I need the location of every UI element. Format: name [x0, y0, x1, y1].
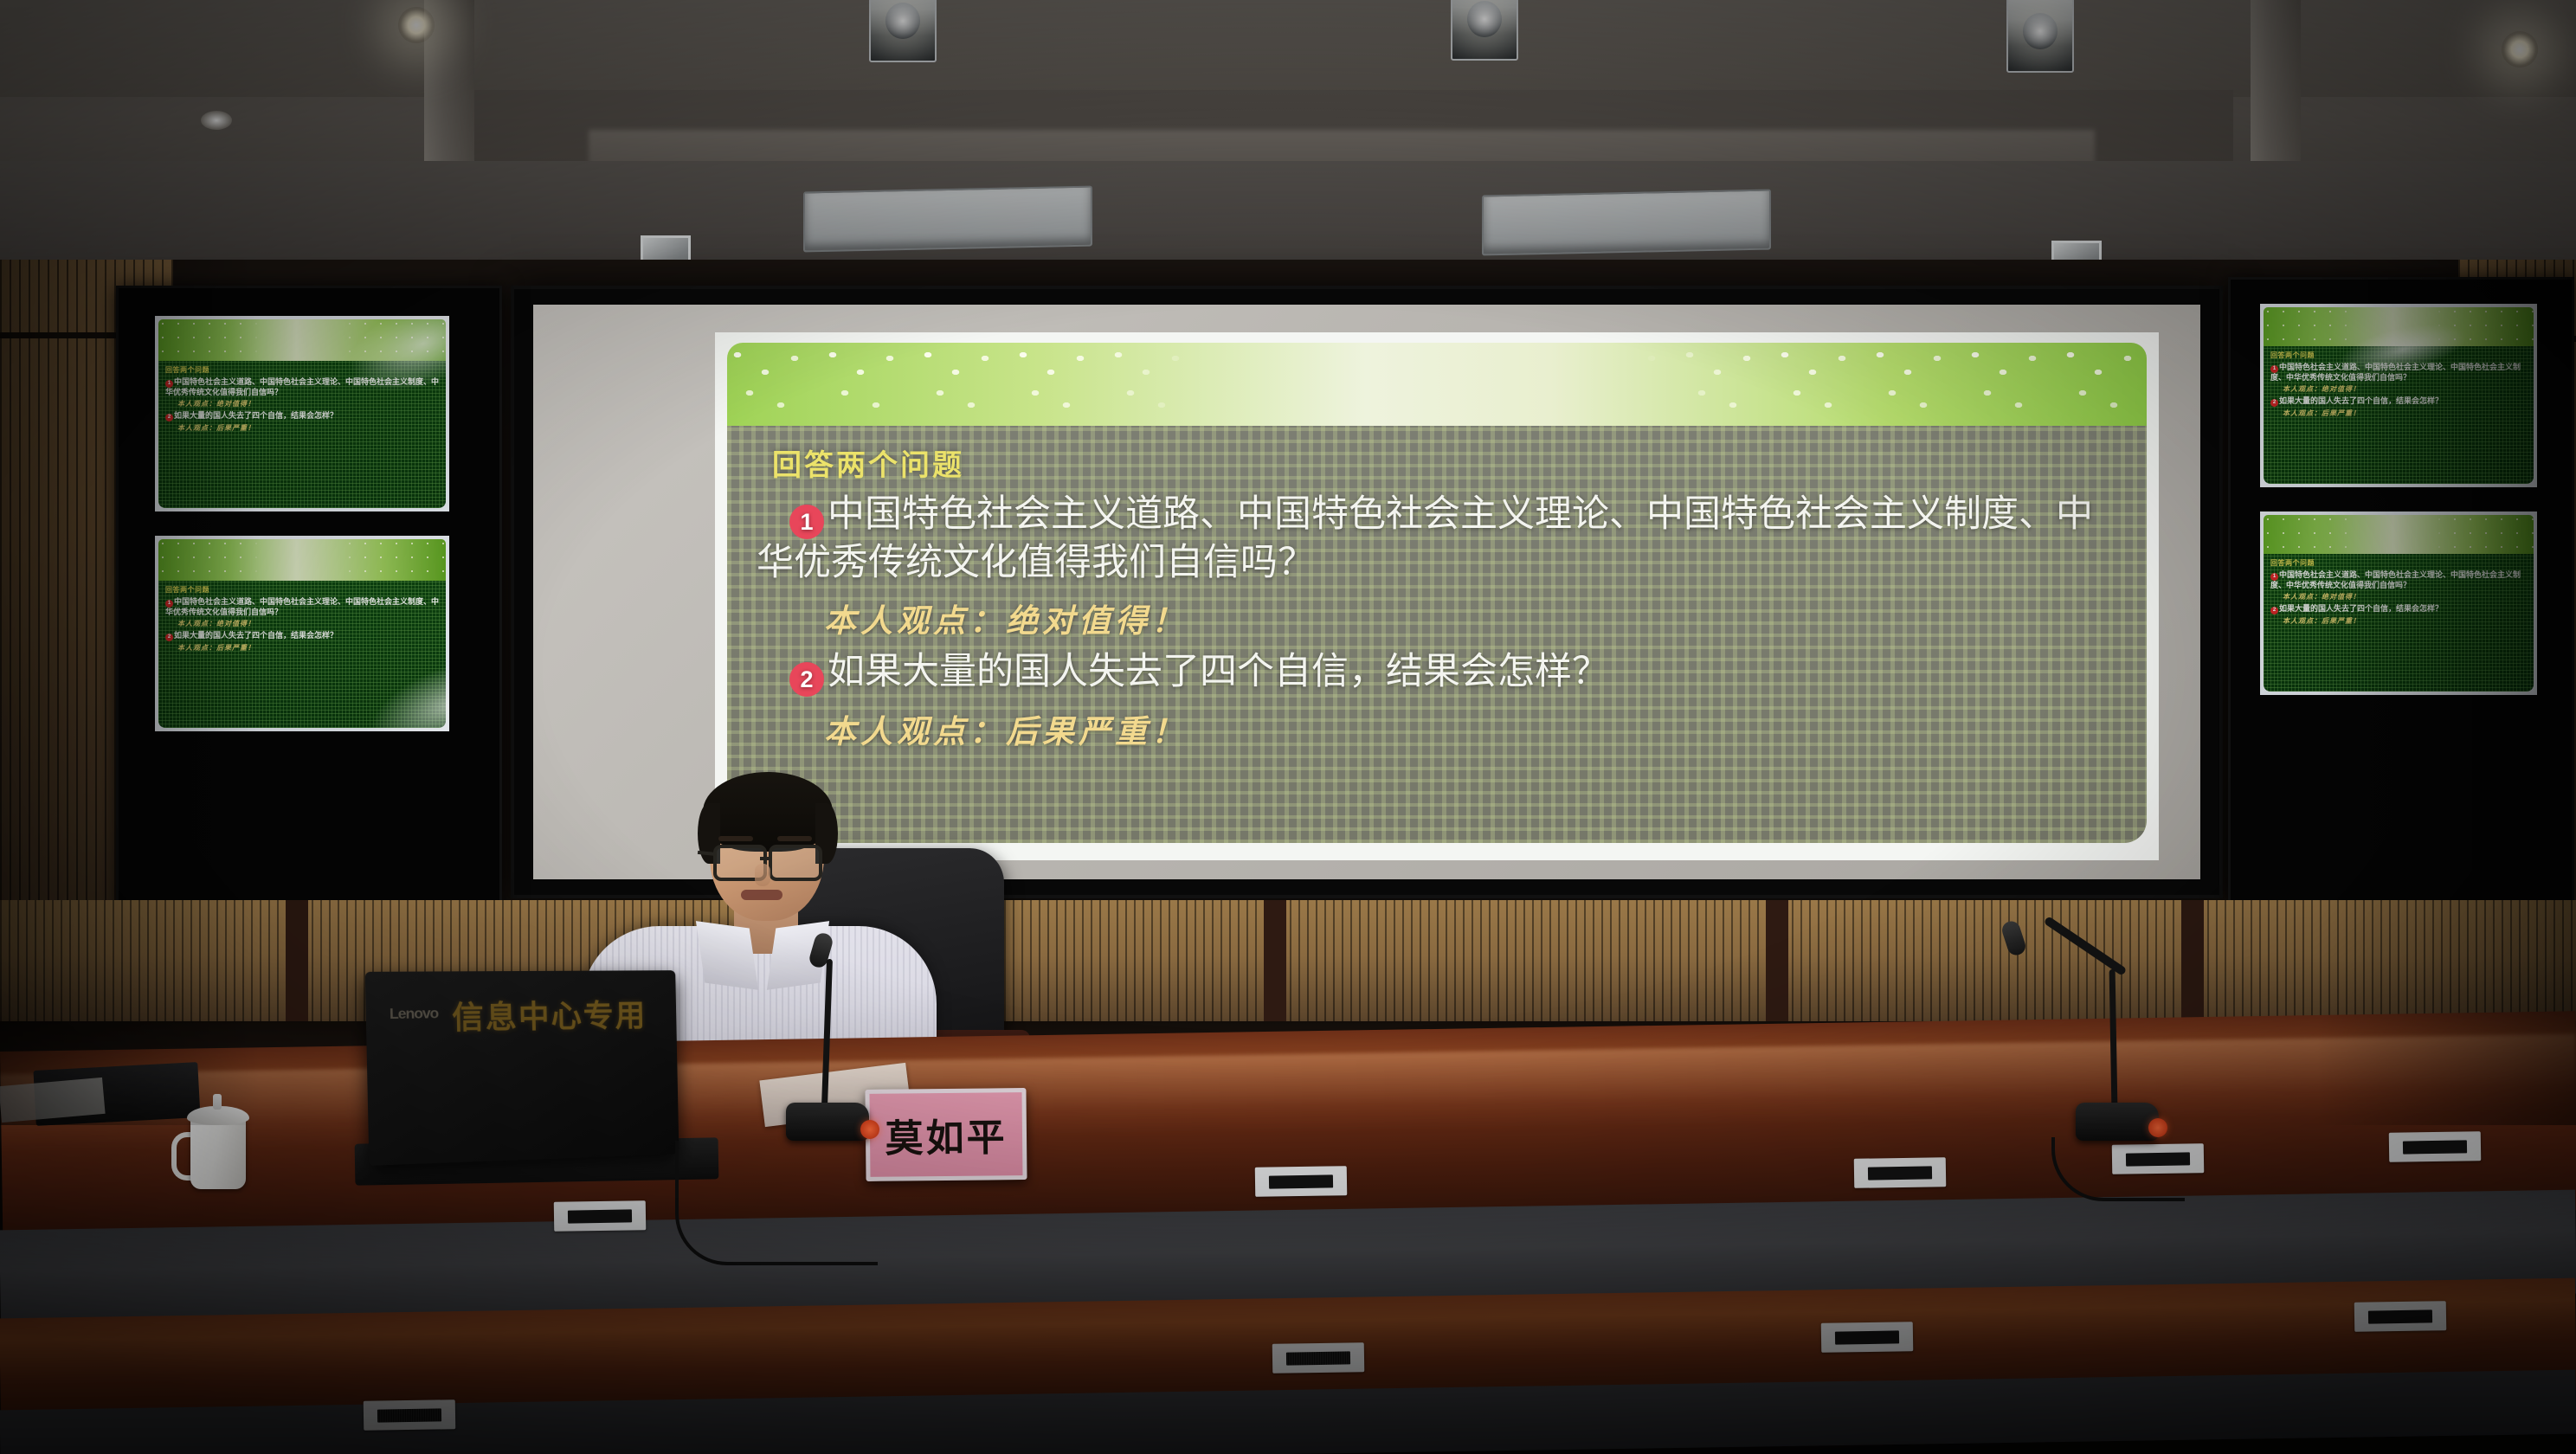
cable-grommet[interactable] [1821, 1322, 1914, 1353]
monitor-right-bottom[interactable]: 回答两个问题 1中国特色社会主义道路、中国特色社会主义理论、中国特色社会主义制度… [2260, 511, 2537, 695]
mini-question-1-lt: 1中国特色社会主义道路、中国特色社会主义理论、中国特色社会主义制度、中华优秀传统… [165, 377, 440, 398]
slide-answer-1: 本人观点：绝对值得！ [824, 595, 2124, 641]
question-badge-2: 2 [789, 662, 824, 697]
mini-answer-2-rt: 本人观点：后果严重！ [2283, 409, 2528, 418]
downlight-icon [398, 7, 435, 43]
question-badge-1: 1 [789, 505, 824, 539]
microphone-indicator-light [2148, 1118, 2167, 1137]
hvac-vent-panel [1482, 190, 1771, 256]
slide-question-2: 2如果大量的国人失去了四个自信，结果会怎样？ [757, 648, 2124, 697]
spotlight-icon [869, 0, 937, 62]
mini-question-1-lb: 1中国特色社会主义道路、中国特色社会主义理论、中国特色社会主义制度、中华优秀传统… [165, 597, 440, 618]
microphone-base [2076, 1103, 2159, 1141]
mini-answer-2-lb: 本人观点：后果严重！ [177, 643, 440, 653]
cable-grommet[interactable] [1272, 1342, 1365, 1374]
question-2-text: 如果大量的国人失去了四个自信，结果会怎样？ [828, 651, 1609, 692]
mini-slide-title-rt: 回答两个问题 [2270, 351, 2528, 360]
lenovo-logo: Lenovo [390, 1005, 439, 1023]
mini-question-2-rb: 2如果大量的国人失去了四个自信，结果会怎样？ [2270, 604, 2528, 614]
mini-answer-1-lt: 本人观点：绝对值得！ [177, 399, 440, 409]
cable-grommet[interactable] [2389, 1131, 2482, 1162]
microphone-gooseneck [821, 959, 833, 1106]
teacup-knob [213, 1094, 222, 1110]
slide-question-1: 1中国特色社会主义道路、中国特色社会主义理论、中国特色社会主义制度、中华优秀传统… [757, 491, 2124, 586]
microphone-right[interactable] [2008, 921, 2199, 1155]
mini-answer-2-rb: 本人观点：后果严重！ [2283, 616, 2528, 626]
presenter-eyebrow-left [718, 836, 753, 841]
microphone-gooseneck [2109, 969, 2118, 1108]
monitor-left-top[interactable]: 回答两个问题 1中国特色社会主义道路、中国特色社会主义理论、中国特色社会主义制度… [155, 316, 449, 511]
microphone-cable [675, 1141, 878, 1265]
right-monitor-cabinet: 回答两个问题 1中国特色社会主义道路、中国特色社会主义理论、中国特色社会主义制度… [2228, 277, 2574, 909]
microphone-gooseneck-upper [2044, 916, 2128, 976]
mini-answer-1-rb: 本人观点：绝对值得！ [2283, 592, 2528, 602]
left-monitor-cabinet: 回答两个问题 1中国特色社会主义道路、中国特色社会主义理论、中国特色社会主义制度… [116, 286, 502, 968]
mini-question-2-lt: 2如果大量的国人失去了四个自信，结果会怎样？ [165, 411, 440, 421]
cable-grommet[interactable] [2354, 1301, 2447, 1332]
hvac-vent-panel [803, 186, 1092, 253]
spotlight-icon [2006, 0, 2074, 73]
ceiling-glow [201, 111, 232, 130]
ceiling-upper-panel [0, 0, 2576, 97]
presenter-nose [755, 864, 770, 886]
mini-question-1-rb: 1中国特色社会主义道路、中国特色社会主义理论、中国特色社会主义制度、中华优秀传统… [2270, 570, 2528, 591]
laptop-engraved-label: 信息中心专用 [452, 991, 647, 1039]
cable-grommet[interactable] [364, 1399, 456, 1431]
slide-header-dot-pattern [727, 343, 2147, 426]
slide-title: 回答两个问题 [772, 441, 2124, 484]
monitor-left-bottom[interactable]: 回答两个问题 1中国特色社会主义道路、中国特色社会主义理论、中国特色社会主义制度… [155, 536, 449, 731]
presenter-mouth [741, 890, 782, 900]
cable-grommet[interactable] [554, 1200, 647, 1232]
slide-answer-2: 本人观点：后果严重！ [824, 705, 2124, 752]
conference-room-scene: 回答两个问题 1中国特色社会主义道路、中国特色社会主义理论、中国特色社会主义制度… [0, 0, 2576, 1454]
mini-question-2-rt: 2如果大量的国人失去了四个自信，结果会怎样？ [2270, 396, 2528, 407]
teacup-body [190, 1116, 246, 1189]
microphone-indicator-light [860, 1120, 879, 1139]
teacup [184, 1094, 258, 1189]
mini-answer-1-lb: 本人观点：绝对值得！ [177, 619, 440, 628]
laptop-lid[interactable]: Lenovo 信息中心专用 [365, 970, 679, 1166]
spotlight-icon [1451, 0, 1518, 61]
ceiling [0, 0, 2576, 286]
cable-grommet[interactable] [1854, 1157, 1947, 1188]
eyeglasses-bridge [760, 857, 772, 860]
mini-slide-title-lb: 回答两个问题 [165, 585, 440, 595]
mini-answer-1-rt: 本人观点：绝对值得！ [2283, 384, 2528, 394]
eyeglasses-lens-right [769, 845, 822, 881]
question-1-text: 中国特色社会主义道路、中国特色社会主义理论、中国特色社会主义制度、中华优秀传统文… [757, 493, 2093, 583]
microphone-base [786, 1103, 869, 1141]
slide-header-band [727, 343, 2147, 426]
mini-answer-2-lt: 本人观点：后果严重！ [177, 423, 440, 433]
mini-slide-title-rb: 回答两个问题 [2270, 558, 2528, 568]
mini-question-2-lb: 2如果大量的国人失去了四个自信，结果会怎样？ [165, 631, 440, 641]
presenter-eyebrow-right [777, 836, 812, 841]
mini-slide-title-lt: 回答两个问题 [165, 365, 440, 375]
microphone-presenter[interactable] [744, 933, 918, 1175]
ceiling-beam-right [2251, 0, 2301, 173]
mini-question-1-rt: 1中国特色社会主义道路、中国特色社会主义理论、中国特色社会主义制度、中华优秀传统… [2270, 363, 2528, 383]
cable-grommet[interactable] [1255, 1166, 1348, 1197]
monitor-right-top[interactable]: 回答两个问题 1中国特色社会主义道路、中国特色社会主义理论、中国特色社会主义制度… [2260, 304, 2537, 487]
downlight-icon [2502, 31, 2538, 68]
